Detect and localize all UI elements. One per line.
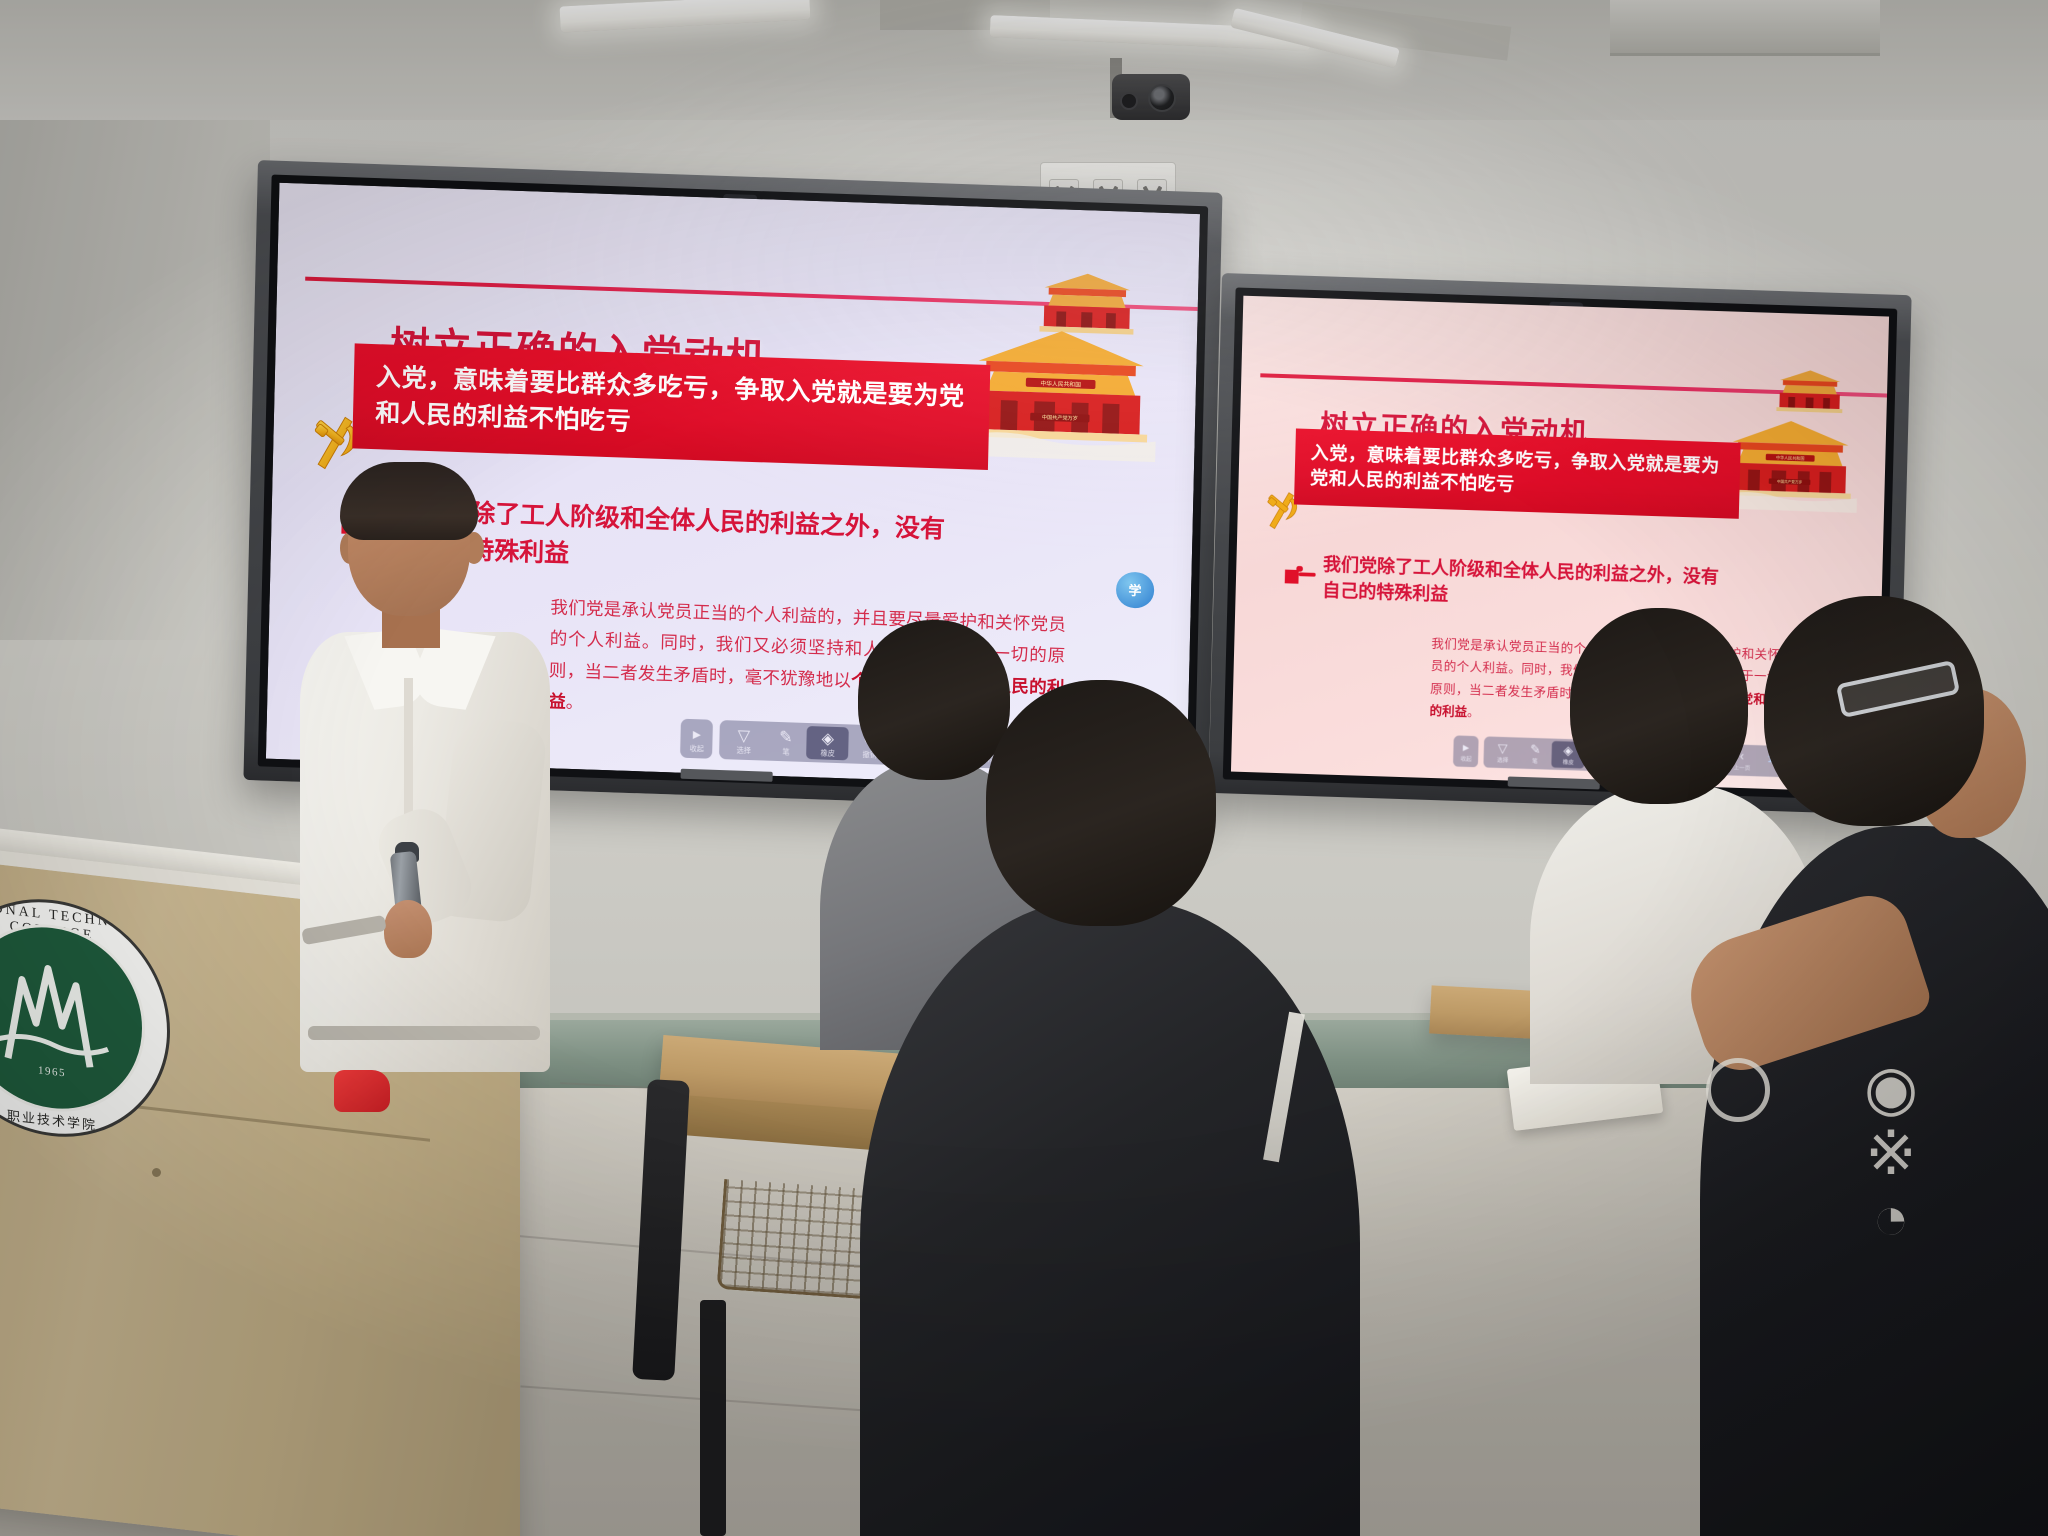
presenter-hair	[340, 462, 478, 540]
camera-sensor-icon	[1120, 92, 1138, 110]
toolbar-collapse-group[interactable]: ▸ 收起	[1453, 736, 1479, 768]
seal-mountain-icon	[0, 953, 112, 1077]
pen-tool-button[interactable]: ✎ 笔	[764, 724, 807, 759]
slide-watermark-badge: 学	[1115, 571, 1154, 608]
select-tool-label: 选择	[1496, 757, 1507, 763]
student-head	[1570, 608, 1748, 804]
select-tool-button[interactable]: ▽ 选择	[722, 723, 765, 758]
cursor-icon: ▽	[1497, 743, 1507, 756]
presenter-shirt-placket	[404, 678, 413, 828]
pen-tool-label: 笔	[782, 748, 789, 755]
toolbar-collapse-button[interactable]: ▸ 收起	[1455, 738, 1476, 765]
red-object-on-podium	[334, 1070, 390, 1112]
cursor-icon: ▽	[737, 728, 750, 744]
party-emblem-icon	[1255, 363, 1310, 660]
pen-icon: ✎	[1530, 744, 1541, 757]
toolbar-collapse-label: 收起	[689, 745, 703, 753]
seal-year: 1965	[38, 1064, 66, 1079]
toolbar-collapse-group[interactable]: ▸ 收起	[680, 718, 713, 759]
toolbar-collapse-button[interactable]: ▸ 收起	[683, 721, 710, 755]
slide-red-banner: 入党，意味着要比群众多吃亏，争取入党就是要为党和人民的利益不怕吃亏	[352, 344, 990, 471]
podium-cable-hole	[152, 1168, 161, 1177]
tiananmen-illustration: 中华人民共和国 中国共产党万岁	[961, 252, 1161, 523]
shirt-print-graphic: ◉ ※ ◔	[1796, 1056, 1986, 1266]
shirt-print-glyph-2: ※	[1796, 1121, 1986, 1186]
pen-icon: ✎	[779, 730, 793, 746]
shirt-print-glyph-3: ◔	[1796, 1186, 1986, 1251]
paragraph-part-2: 。	[565, 691, 583, 712]
camera-lens-icon	[1148, 84, 1176, 112]
pen-tool-label: 笔	[1532, 758, 1538, 764]
presenter	[296, 470, 556, 1070]
presenter-shirt-hem	[308, 1026, 540, 1040]
smartboard-left-brandplate	[680, 769, 772, 782]
shirt-print-glyph-1: ◉	[1796, 1056, 1986, 1121]
pointing-hand-icon	[1284, 557, 1317, 596]
slide-bullet-text: 我们党除了工人阶级和全体人民的利益之外，没有自己的特殊利益	[1322, 552, 1724, 617]
select-tool-label: 选择	[736, 746, 750, 754]
select-tool-button[interactable]: ▽ 选择	[1485, 739, 1518, 766]
shirt-print-circle	[1706, 1058, 1770, 1122]
student-head	[986, 680, 1216, 926]
student-foreground-center	[890, 680, 1310, 1536]
chair-post-left	[700, 1300, 726, 1536]
paragraph-part-2: 。	[1467, 705, 1480, 719]
chevron-right-icon: ▸	[1462, 742, 1469, 755]
classroom-scene: 树立正确的入党动机	[0, 0, 2048, 1536]
presenter-hand	[384, 900, 432, 958]
ceiling-vent	[1610, 0, 1880, 56]
tiananmen-illustration: 中华人民共和国 中国共产党万岁	[1720, 349, 1861, 572]
chevron-right-icon: ▸	[693, 727, 701, 743]
slide-red-banner: 入党，意味着要比群众多吃亏，争取入党就是要为党和人民的利益不怕吃亏	[1294, 428, 1742, 518]
student-torso	[860, 900, 1360, 1536]
toolbar-collapse-label: 收起	[1460, 756, 1471, 762]
